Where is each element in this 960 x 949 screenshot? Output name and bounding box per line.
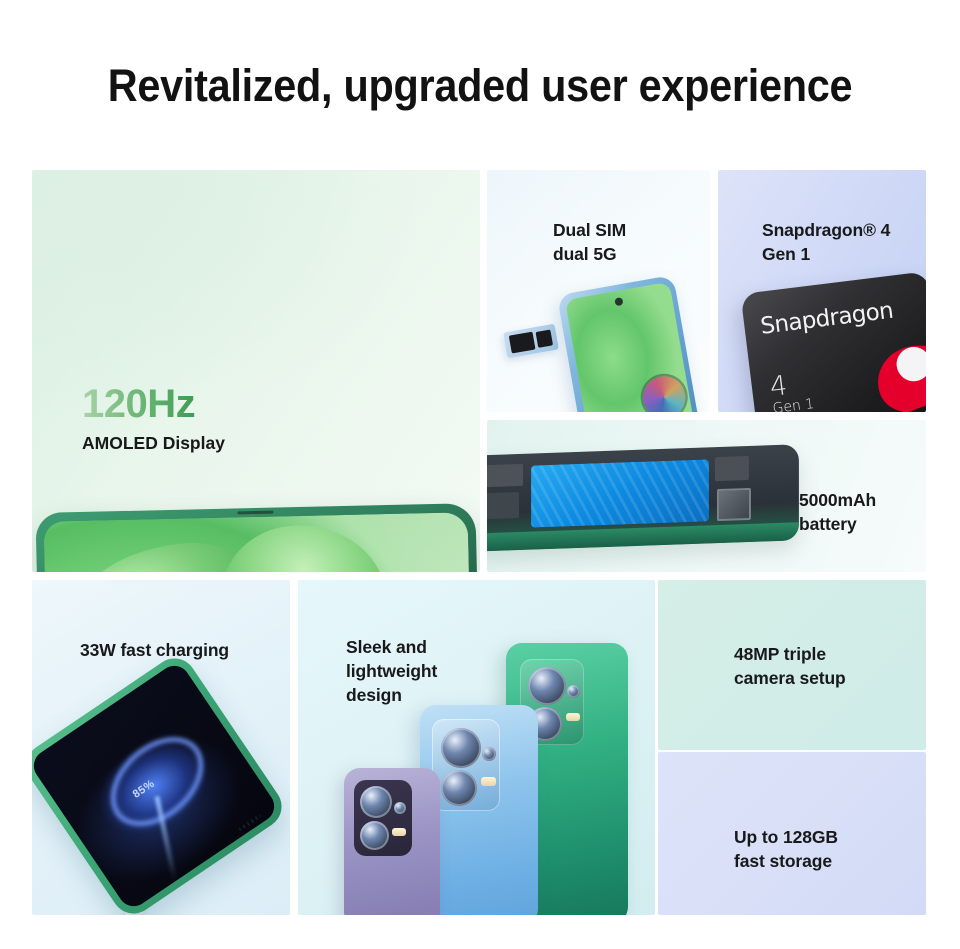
phone-cutaway-image — [487, 444, 799, 552]
camera-lens-icon — [528, 667, 566, 705]
front-camera-icon — [614, 297, 623, 306]
internal-component — [717, 488, 751, 521]
flash-icon — [392, 828, 406, 836]
card-snapdragon-chipset[interactable]: Snapdragon® 4 Gen 1 Snapdragon 4 Gen 1 — [718, 170, 926, 412]
chip-generation-label: Gen 1 — [772, 397, 815, 412]
card-design[interactable]: Sleek and lightweight design — [298, 580, 655, 915]
camera-lens-icon — [360, 786, 392, 818]
wallpaper-blob — [202, 512, 403, 572]
fast-charging-label: 33W fast charging — [80, 638, 229, 662]
sim-tray-icon — [503, 324, 559, 359]
snapdragon-s-logo-icon — [833, 330, 926, 412]
earpiece-icon — [237, 511, 273, 515]
dual-sim-label: Dual SIM dual 5G — [553, 218, 626, 266]
internal-component — [715, 456, 749, 481]
phone-screen — [565, 282, 694, 412]
battery-label: 5000mAh battery — [799, 488, 876, 536]
camera-lens-icon — [394, 802, 406, 814]
camera-lens-icon — [441, 770, 477, 806]
flash-icon — [481, 777, 496, 786]
card-camera-setup[interactable]: 48MP triple camera setup — [658, 580, 926, 750]
chip-model-number: 4 — [768, 370, 789, 403]
camera-lens-icon — [567, 685, 580, 698]
storage-label: Up to 128GB fast storage — [734, 825, 838, 873]
camera-lens-icon — [482, 747, 496, 761]
display-subtext: AMOLED Display — [82, 433, 225, 454]
card-dual-sim[interactable]: Dual SIM dual 5G — [487, 170, 710, 412]
camera-lens-icon — [640, 373, 689, 412]
snapdragon-chip-image: Snapdragon 4 Gen 1 — [740, 271, 926, 412]
sim-card-icon — [536, 329, 554, 347]
phone-screen — [44, 512, 473, 572]
sim-card-icon — [509, 332, 536, 354]
internal-component — [487, 492, 519, 520]
camera-lens-icon — [441, 728, 481, 768]
internal-component — [487, 464, 523, 488]
phone-landscape-image — [35, 503, 480, 572]
phone-charging-image: 85% — [32, 650, 290, 915]
page-title: Revitalized, upgraded user experience — [38, 60, 921, 112]
camera-setup-label: 48MP triple camera setup — [734, 642, 846, 690]
phone-screen: 85% — [32, 660, 280, 913]
card-battery-capacity[interactable]: 5000mAh battery — [487, 420, 926, 572]
chip-model-label: 4 Gen 1 — [768, 368, 815, 412]
chip-brand-label: Snapdragon — [759, 298, 894, 340]
charging-glow-ring — [93, 719, 220, 843]
card-fast-charging[interactable]: 33W fast charging 85% — [32, 580, 290, 915]
card-amoled-display[interactable]: 120Hz AMOLED Display — [32, 170, 480, 572]
display-refresh-rate-headline: 120Hz — [82, 382, 195, 427]
card-storage[interactable]: Up to 128GB fast storage — [658, 752, 926, 915]
phone-front-image — [557, 275, 699, 412]
design-label: Sleek and lightweight design — [346, 635, 437, 707]
camera-module — [432, 719, 500, 811]
battery-cell-icon — [531, 459, 709, 527]
phone-rear-purple — [344, 768, 440, 915]
camera-module — [354, 780, 412, 856]
camera-lens-icon — [360, 821, 389, 850]
flash-icon — [566, 713, 580, 721]
chipset-label: Snapdragon® 4 Gen 1 — [762, 218, 890, 266]
